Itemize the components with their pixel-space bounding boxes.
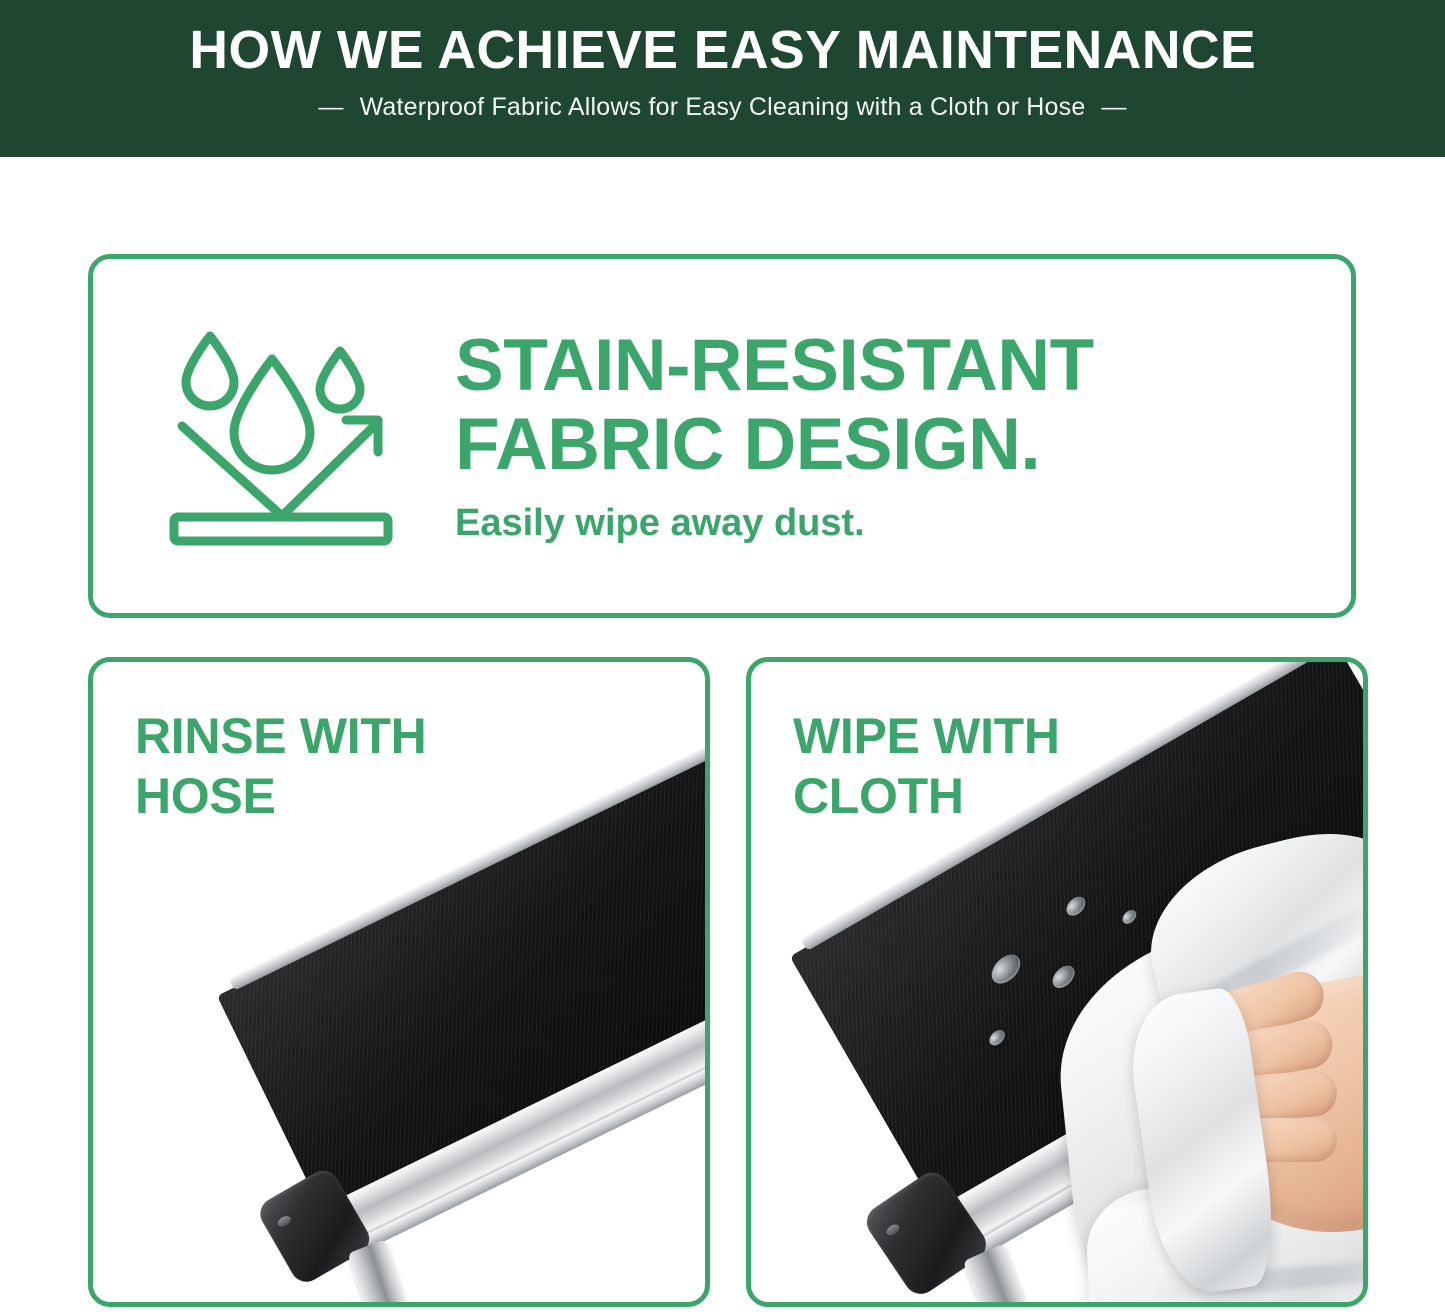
page-title: HOW WE ACHIEVE EASY MAINTENANCE	[189, 22, 1256, 79]
header-banner: HOW WE ACHIEVE EASY MAINTENANCE —Waterpr…	[0, 0, 1445, 157]
hand-spraying-hose-on-cot-photo	[93, 662, 705, 1302]
subtitle-dash-left: —	[318, 93, 343, 121]
rinse-with-hose-card: RINSE WITH HOSE	[88, 657, 710, 1307]
hero-heading-line1: STAIN-RESISTANT	[455, 327, 1094, 406]
hand-wiping-cot-with-cloth-photo	[751, 662, 1363, 1302]
water-repellent-fabric-icon-svg	[160, 314, 422, 558]
droplet-small-right-icon	[320, 351, 360, 409]
hero-text-block: STAIN-RESISTANT FABRIC DESIGN. Easily wi…	[455, 327, 1094, 546]
cot-cap-screw-left	[884, 1222, 901, 1237]
stain-resistant-hero-card: STAIN-RESISTANT FABRIC DESIGN. Easily wi…	[88, 254, 1356, 618]
fabric-surface-bar-icon	[174, 517, 388, 541]
page-subtitle: —Waterproof Fabric Allows for Easy Clean…	[318, 93, 1126, 122]
hero-heading-line2: FABRIC DESIGN.	[455, 406, 1094, 485]
droplet-small-left-icon	[186, 336, 234, 406]
water-repellent-fabric-icon	[141, 306, 441, 566]
cot-cap-screw-left	[276, 1214, 293, 1229]
camping-cot-product	[142, 741, 705, 1302]
subtitle-dash-right: —	[1101, 93, 1126, 121]
cot-leg-left	[348, 1239, 432, 1302]
droplet-large-center-icon	[234, 359, 310, 470]
wipe-with-cloth-card: WIPE WITH CLOTH	[746, 657, 1368, 1307]
subtitle-text: Waterproof Fabric Allows for Easy Cleani…	[360, 93, 1086, 121]
hero-subheading: Easily wipe away dust.	[455, 502, 1094, 545]
